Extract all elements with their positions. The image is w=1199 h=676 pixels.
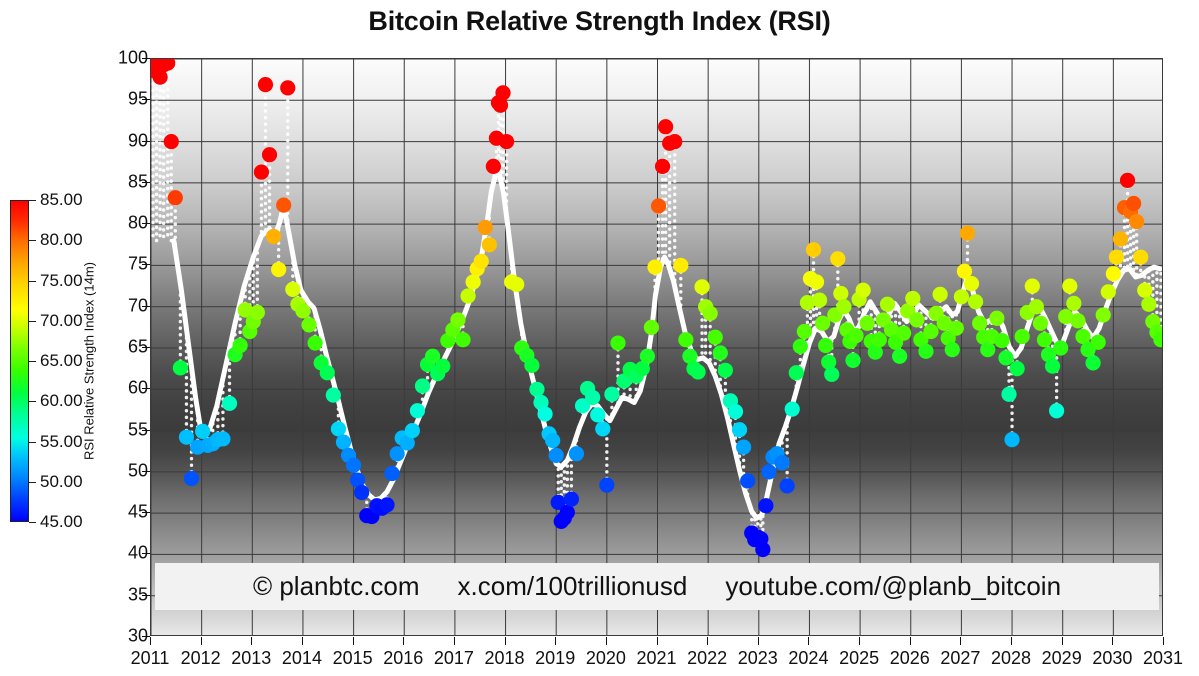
- x-axis-tick: [1163, 637, 1164, 645]
- watermark-youtube: youtube.com/@planb_bitcoin: [725, 571, 1061, 602]
- x-axis-tick: [403, 637, 404, 645]
- watermark-banner: © planbtc.com x.com/100trillionusd youtu…: [155, 563, 1159, 610]
- watermark-copyright: © planbtc.com: [253, 571, 420, 602]
- colorbar-tick: [29, 361, 36, 362]
- y-axis-tick-label: 55: [128, 419, 148, 440]
- y-axis-tick-label: 40: [128, 543, 148, 564]
- x-axis-tick-label: 2011: [131, 648, 170, 669]
- colorbar-tick: [29, 281, 36, 282]
- colorbar-tick: [29, 240, 36, 241]
- x-axis-tick: [302, 637, 303, 645]
- x-axis-tick: [606, 637, 607, 645]
- plot-area: [150, 58, 1163, 636]
- x-axis-tick: [1112, 637, 1113, 645]
- watermark-x-handle: x.com/100trillionusd: [458, 571, 688, 602]
- colorbar-tick: [29, 482, 36, 483]
- x-axis-tick-label: 2030: [1092, 648, 1132, 669]
- y-axis-tick-label: 65: [128, 337, 148, 358]
- colorbar-tick-label: 85.00: [40, 190, 83, 210]
- x-axis-tick-label: 2015: [333, 648, 373, 669]
- colorbar-tick-label: 65.00: [40, 351, 83, 371]
- colorbar-axis-label: RSI Relative Strength Index (14m): [78, 200, 100, 522]
- x-axis-tick: [201, 637, 202, 645]
- y-axis-tick-label: 90: [128, 130, 148, 151]
- y-axis-tick-label: 45: [128, 502, 148, 523]
- colorbar-tick-label: 60.00: [40, 391, 83, 411]
- x-axis-tick-label: 2024: [788, 648, 828, 669]
- colorbar-tick-label: 50.00: [40, 472, 83, 492]
- x-axis-tick: [150, 637, 151, 645]
- x-axis-tick: [555, 637, 556, 645]
- x-axis-tick: [808, 637, 809, 645]
- scatter-points: [151, 59, 1163, 557]
- colorbar-tick: [29, 200, 36, 201]
- x-axis-tick-label: 2025: [839, 648, 879, 669]
- x-axis-tick-label: 2021: [636, 648, 676, 669]
- colorbar-tick-label: 80.00: [40, 230, 83, 250]
- x-axis-tick: [910, 637, 911, 645]
- data-layer: [151, 59, 1163, 636]
- y-axis-tick-label: 75: [128, 254, 148, 275]
- page-title: Bitcoin Relative Strength Index (RSI): [0, 6, 1199, 37]
- x-axis-tick-label: 2026: [890, 648, 930, 669]
- x-axis-tick-label: 2018: [485, 648, 525, 669]
- y-axis-tick-label: 30: [128, 626, 148, 647]
- x-axis-tick-label: 2023: [738, 648, 778, 669]
- y-axis-tick-label: 60: [128, 378, 148, 399]
- x-axis-tick-label: 2029: [1042, 648, 1082, 669]
- x-axis-tick: [353, 637, 354, 645]
- y-axis-tick-label: 80: [128, 213, 148, 234]
- colorbar-tick: [29, 522, 36, 523]
- colorbar: 85.0080.0075.0070.0065.0060.0055.0050.00…: [10, 200, 130, 522]
- colorbar-tick: [29, 401, 36, 402]
- x-axis-tick-label: 2014: [282, 648, 322, 669]
- chart-root: Bitcoin Relative Strength Index (RSI) 85…: [0, 0, 1199, 676]
- x-axis-tick: [505, 637, 506, 645]
- x-axis-tick-label: 2022: [687, 648, 727, 669]
- x-axis-tick: [251, 637, 252, 645]
- colorbar-tick-label: 45.00: [40, 512, 83, 532]
- x-axis-tick: [657, 637, 658, 645]
- colorbar-tick-label: 75.00: [40, 271, 83, 291]
- colorbar-tick: [29, 321, 36, 322]
- x-axis-tick-label: 2031: [1143, 648, 1183, 669]
- colorbar-tick-label: 70.00: [40, 311, 83, 331]
- x-axis-tick-label: 2017: [434, 648, 474, 669]
- y-axis-tick-label: 100: [118, 48, 148, 69]
- x-axis-tick-label: 2027: [940, 648, 980, 669]
- x-axis-tick: [1011, 637, 1012, 645]
- colorbar-tick-label: 55.00: [40, 432, 83, 452]
- y-axis-tick-label: 50: [128, 460, 148, 481]
- x-axis-tick-label: 2016: [383, 648, 423, 669]
- x-axis-tick-label: 2020: [586, 648, 626, 669]
- y-axis-tick-label: 85: [128, 171, 148, 192]
- y-axis-tick-label: 70: [128, 295, 148, 316]
- colorbar-gradient: [10, 200, 29, 522]
- x-axis-tick-label: 2012: [181, 648, 221, 669]
- x-axis-tick: [1062, 637, 1063, 645]
- x-axis-tick-label: 2013: [231, 648, 271, 669]
- y-axis-tick-label: 95: [128, 89, 148, 110]
- x-axis-tick: [758, 637, 759, 645]
- x-axis-tick: [707, 637, 708, 645]
- x-axis-tick: [859, 637, 860, 645]
- x-axis-tick: [454, 637, 455, 645]
- x-axis-tick: [960, 637, 961, 645]
- colorbar-tick: [29, 442, 36, 443]
- x-axis-tick-label: 2028: [991, 648, 1031, 669]
- x-axis-tick-label: 2019: [535, 648, 575, 669]
- y-axis-tick-label: 35: [128, 584, 148, 605]
